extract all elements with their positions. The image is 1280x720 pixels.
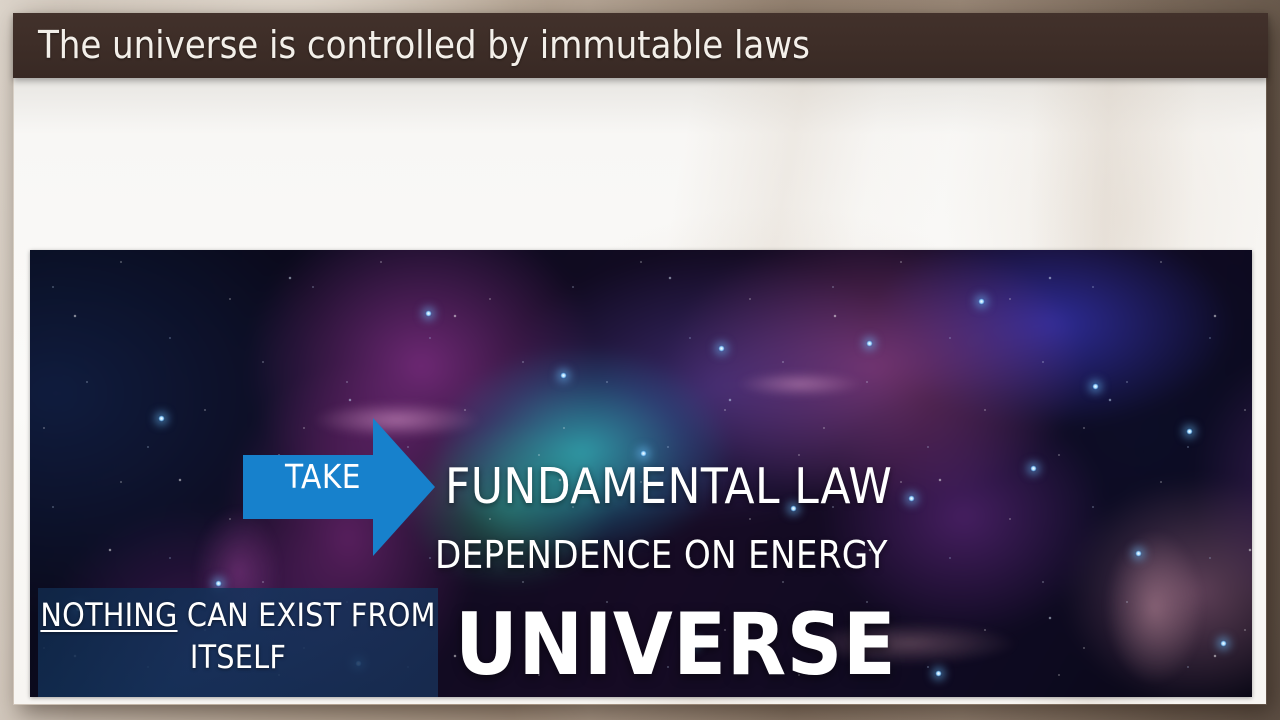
bright-star [718,345,725,352]
bright-star [215,580,222,587]
bright-star [425,310,432,317]
caption-line-2: ITSELF [190,637,286,679]
slide-title-bar: The universe is controlled by immutable … [13,13,1268,78]
desktop-background: The universe is controlled by immutable … [0,0,1280,720]
bright-star [560,372,567,379]
bright-star [1186,428,1193,435]
bright-star [1135,550,1142,557]
slide-title: The universe is controlled by immutable … [38,23,810,67]
bright-star [1092,383,1099,390]
bright-star [866,340,873,347]
headline-fundamental-law: FUNDAMENTAL LAW [445,458,892,515]
bright-star [640,450,647,457]
bright-star [158,415,165,422]
right-arrow-icon [243,418,435,556]
slide-body: TAKE FUNDAMENTAL LAW DEPENDENCE ON ENERG… [14,78,1266,704]
caption-box: NOTHING CAN EXIST FROM ITSELF [38,588,438,697]
caption-line-1-rest: CAN EXIST FROM [178,596,436,634]
caption-emphasis: NOTHING [40,596,177,634]
headline-universe: UNIVERSE [455,595,896,695]
headline-dependence-on-energy: DEPENDENCE ON ENERGY [435,533,888,577]
nebula-image: TAKE FUNDAMENTAL LAW DEPENDENCE ON ENERG… [30,250,1252,697]
bright-star [935,670,942,677]
caption-line-1: NOTHING CAN EXIST FROM [40,595,435,637]
bright-star [1220,640,1227,647]
bright-star [978,298,985,305]
bright-star [1030,465,1037,472]
bright-star [908,495,915,502]
